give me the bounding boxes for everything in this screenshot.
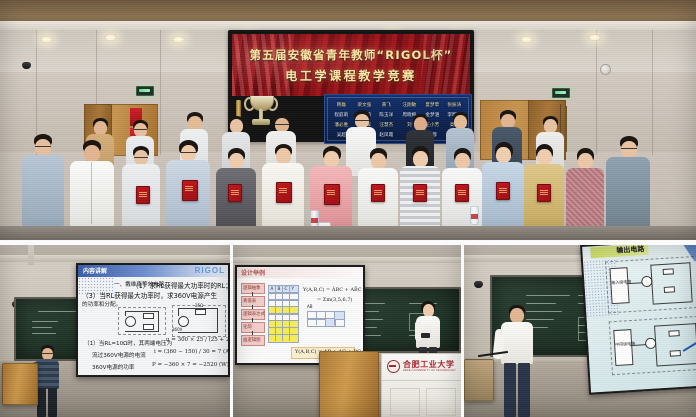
podium-university: 合肥工业大学 HEFEI UNIVERSITY OF TECHNOLOGY [381, 353, 461, 417]
person-front [358, 148, 398, 228]
door-handle-bar [566, 106, 567, 152]
lecture-photo-logic: 设计举例 逻辑抽象 真值表 逻辑表达式 化简 画逻辑图 A B C Y [233, 245, 461, 417]
university-name-en: HEFEI UNIVERSITY OF TECHNOLOGY [403, 369, 456, 372]
circuit-diagram-a [118, 307, 166, 335]
projector-screen: 输出电路 输入级电路 [580, 245, 696, 395]
name-cell: 汪慧杰 [376, 121, 397, 127]
name-cell: 韩磊 [331, 101, 352, 107]
slide-header: 设计举例 [241, 268, 265, 277]
rigol-watermark: RIGOL [195, 266, 225, 275]
kmap-header: AB [307, 304, 312, 309]
university-name-cn: 合肥工业大学 [403, 361, 456, 369]
person-front [70, 140, 114, 228]
lectern [319, 351, 379, 417]
slide-eq-2: i = (360 − 150) / 30 = 7 (A) [154, 349, 230, 355]
person-front [482, 142, 524, 228]
name-cell: 黄飞 [376, 101, 397, 107]
water-bottle [470, 206, 479, 225]
trophy-base [252, 119, 270, 125]
slide-step-1: （1）当RL=10Ω时，其两端电压为 [84, 339, 172, 347]
flow-label-3: 逻辑表达式 [241, 309, 265, 320]
ceiling-light [520, 36, 533, 43]
name-cell: 夏梦苹 [422, 101, 443, 107]
person-front [606, 136, 650, 228]
flow-label-5: 画逻辑图 [241, 335, 265, 346]
trophy-icon [246, 96, 276, 130]
wall-seam [652, 30, 653, 155]
name-cell: 张振涛 [444, 101, 465, 107]
event-banner: 第五届安徽省青年教师“RIGOL杯” 电工学课程教学竞赛 [232, 34, 470, 96]
person-front [262, 144, 304, 228]
certificate [182, 180, 198, 201]
wall-seam [160, 30, 161, 155]
certificate [228, 184, 242, 202]
person-front [22, 134, 64, 226]
logic-formula-2: = Σm(3,5,6,7) [317, 297, 352, 303]
certificate [413, 184, 427, 202]
flow-label-text: 画逻辑图 [243, 337, 261, 343]
slide-header: 输出电路 [616, 245, 645, 256]
ceiling-light [104, 34, 117, 41]
person-front [166, 140, 210, 228]
projector-screen: 设计举例 逻辑抽象 真值表 逻辑表达式 化简 画逻辑图 A B C Y [235, 265, 365, 365]
karnaugh-map: AB [307, 311, 343, 333]
exit-sign [136, 86, 154, 96]
ceiling-beam [233, 257, 461, 263]
truth-table: A B C Y [268, 285, 298, 347]
circuit-block-upper: 输入级电路 [605, 256, 696, 314]
slide-step-3: 360V电源的功率 [92, 363, 134, 371]
lectern [464, 359, 494, 401]
clicker-device [421, 333, 430, 338]
university-logo: 合肥工业大学 HEFEI UNIVERSITY OF TECHNOLOGY [387, 360, 456, 373]
slide-step-2: 流过360V电源的电流 [92, 351, 146, 359]
ceiling-light [588, 34, 601, 41]
flow-label-text: 逻辑抽象 [243, 285, 261, 291]
smoke-detector [600, 64, 611, 75]
name-cell: 陈玉洋 [376, 111, 397, 117]
truth-table-header: C [285, 286, 288, 291]
lecture-photo-circuit: 内容讲解 RIGOL 一、戴维南等效电路 （1）求RL获得最大功率时的RL；（2… [0, 245, 230, 417]
person-front [216, 148, 256, 228]
ceiling [0, 0, 696, 30]
person-front [524, 144, 564, 228]
truth-table-header: B [278, 286, 281, 291]
camera [22, 62, 31, 69]
exit-sign [552, 88, 570, 98]
slide-problem-2: （3）当RL获得最大功率时，求360V电源产生 [82, 290, 217, 300]
flow-label-4: 化简 [241, 322, 265, 333]
name-cell: 赵凤霞 [376, 131, 397, 137]
logic-formula-1: Y(A,B,C) = ĀBC + AB̄C + ABC̄ + ABC [303, 287, 365, 293]
ceiling-beam [0, 255, 230, 262]
flow-label-2: 真值表 [241, 296, 265, 307]
presenter [500, 305, 534, 417]
slide-problem-3: 的功率和分配。 [82, 300, 121, 308]
lectern [2, 363, 38, 405]
circuit-diagram-b: 25Ω 360V [172, 305, 226, 337]
lecture-photo-output-circuit: 输出电路 输入级电路 [464, 245, 696, 417]
slide-problem-1: （1）求RL获得最大功率时的RL；（2） [132, 280, 230, 290]
flow-label-1: 逻辑抽象 [241, 283, 265, 294]
certificate [496, 182, 510, 200]
front-table [0, 226, 696, 240]
flow-label-text: 逻辑表达式 [243, 311, 265, 317]
truth-table-header: Y [292, 286, 295, 291]
photo-collage: 第五届安徽省青年教师“RIGOL杯” 电工学课程教学竞赛 韩磊梁文强黄飞汪翔敏夏… [0, 0, 696, 417]
logo-mark-icon [387, 360, 400, 373]
person-front [400, 146, 440, 228]
certificate [324, 184, 340, 205]
bottom-photo-row: 内容讲解 RIGOL 一、戴维南等效电路 （1）求RL获得最大功率时的RL；（2… [0, 240, 696, 417]
ceiling-beam [28, 245, 34, 265]
certificate [136, 186, 150, 204]
certificate [371, 184, 385, 202]
camera [474, 281, 483, 288]
certificate [537, 184, 551, 202]
slide-eq-3: P = −360 × 7 = −2520 (W) [152, 362, 229, 368]
certificate [276, 182, 292, 203]
projector-screen: 内容讲解 RIGOL 一、戴维南等效电路 （1）求RL获得最大功率时的RL；（2… [76, 263, 230, 377]
ceiling-light [40, 36, 53, 43]
person-front [122, 146, 160, 228]
name-cell: 汪翔敏 [399, 101, 420, 107]
wall-seam [596, 30, 597, 155]
slide-eq-1: u = 300 × 25 / (25 + 25) = 150 (V) [166, 337, 230, 343]
ceiling-light [172, 36, 185, 43]
flow-label-text: 化简 [243, 324, 252, 330]
group-photo: 第五届安徽省青年教师“RIGOL杯” 电工学课程教学竞赛 韩磊梁文强黄飞汪翔敏夏… [0, 0, 696, 240]
slide-header: 内容讲解 [83, 266, 107, 275]
truth-table-header: A [271, 286, 274, 291]
person-front [566, 148, 604, 228]
banner-line-2: 电工学课程教学竞赛 [232, 67, 470, 84]
certificate [455, 184, 469, 202]
annotation-arrow [683, 337, 696, 352]
name-cell: 梁文强 [354, 101, 375, 107]
banner-line-1: 第五届安徽省青年教师“RIGOL杯” [232, 47, 470, 63]
flow-label-text: 真值表 [243, 298, 256, 304]
circuit-block-lower: 中间级电路 [609, 316, 696, 376]
